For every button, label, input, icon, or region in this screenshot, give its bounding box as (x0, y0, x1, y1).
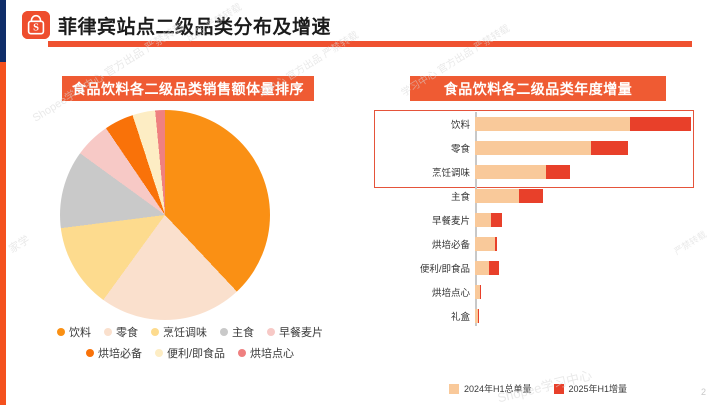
bar-category-label: 饮料 (372, 117, 475, 131)
legend-swatch-icon (238, 349, 246, 357)
legend-swatch-icon (151, 328, 159, 336)
pie-legend-item: 烹饪调味 (151, 324, 207, 340)
pie-legend-label: 便利/即食品 (167, 345, 225, 361)
page-title: 菲律宾站点二级品类分布及增速 (58, 12, 331, 39)
title-underline-rule (48, 41, 692, 47)
bar-segment-growth (630, 117, 691, 131)
pie-legend-item: 烘培必备 (86, 345, 142, 361)
right-panel: 食品饮料各二级品类年度增量 饮料零食烹饪调味主食早餐麦片烘培必备便利/即食品烘培… (366, 62, 710, 397)
bar-track (475, 117, 691, 131)
pie-legend: 饮料零食烹饪调味主食早餐麦片 烘培必备便利/即食品烘培点心 (22, 324, 358, 366)
bar-segment-base (475, 213, 491, 227)
bar-segment-base (475, 165, 546, 179)
pie-legend-item: 饮料 (57, 324, 91, 340)
bar-legend-label: 2024年H1总单量 (464, 382, 532, 395)
bar-segment-growth (480, 285, 481, 299)
bar-track (475, 237, 497, 251)
pie-legend-label: 烘培必备 (98, 345, 142, 361)
bar-category-label: 烘培必备 (372, 237, 475, 251)
slide-canvas: S 菲律宾站点二级品类分布及增速 食品饮料各二级品类销售额体量排序 饮料零食烹饪… (0, 0, 720, 405)
bar-segment-base (475, 117, 630, 131)
legend-swatch-icon (267, 328, 275, 336)
pie-legend-item: 主食 (220, 324, 254, 340)
bar-row: 礼盒 (372, 304, 478, 328)
bar-legend-item: 2025年H1增量 (554, 382, 628, 395)
bar-segment-base (475, 141, 591, 155)
bar-row: 便利/即食品 (372, 256, 499, 280)
bar-category-label: 主食 (372, 189, 475, 203)
bar-segment-growth (519, 189, 543, 203)
bar-category-label: 便利/即食品 (372, 261, 475, 275)
bar-category-label: 早餐麦片 (372, 213, 475, 227)
bar-row: 饮料 (372, 112, 691, 136)
bar-segment-growth (591, 141, 627, 155)
bar-track (475, 141, 628, 155)
bar-category-label: 零食 (372, 141, 475, 155)
bar-row: 烘培必备 (372, 232, 497, 256)
legend-swatch-icon (554, 384, 564, 394)
bar-segment-growth (495, 237, 497, 251)
svg-text:S: S (33, 23, 39, 34)
bar-chart-legend: 2024年H1总单量2025年H1增量 (372, 382, 704, 395)
pie-legend-item: 烘培点心 (238, 345, 294, 361)
bar-row: 烹饪调味 (372, 160, 570, 184)
pie-legend-row: 饮料零食烹饪调味主食早餐麦片 (22, 324, 358, 340)
pie-legend-label: 饮料 (69, 324, 91, 340)
left-panel-title: 食品饮料各二级品类销售额体量排序 (62, 76, 314, 101)
legend-swatch-icon (86, 349, 94, 357)
bar-chart: 饮料零食烹饪调味主食早餐麦片烘培必备便利/即食品烘培点心礼盒 2024年H1总单… (372, 110, 704, 332)
bar-category-label: 礼盒 (372, 309, 475, 323)
bar-category-label: 烹饪调味 (372, 165, 475, 179)
bar-track (475, 261, 499, 275)
pie-legend-label: 烹饪调味 (163, 324, 207, 340)
pie-legend-label: 早餐麦片 (279, 324, 323, 340)
pie-legend-item: 早餐麦片 (267, 324, 323, 340)
bar-track (475, 213, 502, 227)
bar-row: 早餐麦片 (372, 208, 502, 232)
bar-track (475, 285, 481, 299)
pie-chart (60, 110, 270, 320)
bar-legend-item: 2024年H1总单量 (449, 382, 532, 395)
bar-track (475, 309, 478, 323)
pie-disc (60, 110, 270, 320)
pie-legend-label: 主食 (232, 324, 254, 340)
left-panel: 食品饮料各二级品类销售额体量排序 饮料零食烹饪调味主食早餐麦片 烘培必备便利/即… (14, 62, 362, 397)
bar-segment-growth (546, 165, 570, 179)
bar-category-label: 烘培点心 (372, 285, 475, 299)
right-panel-title: 食品饮料各二级品类年度增量 (410, 76, 666, 101)
bar-segment-growth (491, 213, 502, 227)
pie-legend-item: 零食 (104, 324, 138, 340)
legend-swatch-icon (449, 384, 459, 394)
bar-segment-base (475, 237, 495, 251)
pie-legend-item: 便利/即食品 (155, 345, 225, 361)
legend-swatch-icon (155, 349, 163, 357)
left-edge-navy-strip (0, 0, 6, 62)
shopee-bag-icon: S (22, 11, 50, 39)
page-number: 2 (701, 387, 706, 397)
bar-track (475, 165, 570, 179)
pie-legend-label: 烘培点心 (250, 345, 294, 361)
left-edge-orange-strip (0, 62, 6, 405)
legend-swatch-icon (104, 328, 112, 336)
bar-segment-growth (489, 261, 499, 275)
bar-row: 主食 (372, 184, 543, 208)
bar-segment-base (475, 189, 519, 203)
bar-legend-label: 2025年H1增量 (569, 382, 628, 395)
bar-track (475, 189, 543, 203)
legend-swatch-icon (57, 328, 65, 336)
pie-legend-row: 烘培必备便利/即食品烘培点心 (22, 345, 358, 361)
bar-row: 烘培点心 (372, 280, 481, 304)
bar-segment-base (475, 261, 489, 275)
legend-swatch-icon (220, 328, 228, 336)
bar-row: 零食 (372, 136, 628, 160)
pie-legend-label: 零食 (116, 324, 138, 340)
